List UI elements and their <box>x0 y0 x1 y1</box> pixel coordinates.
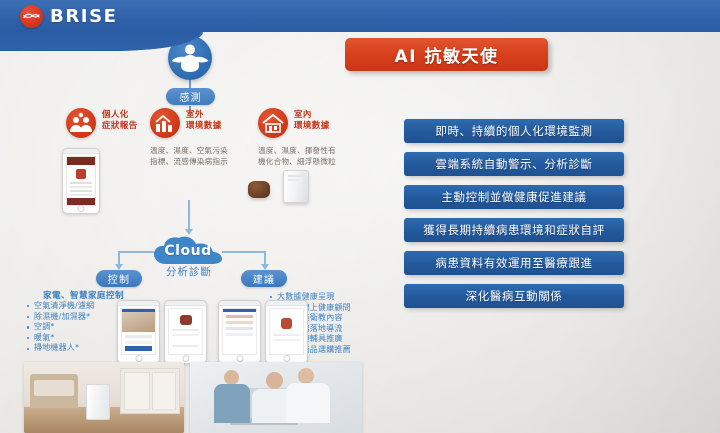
statement-pill: 即時、持續的個人化環境監測 <box>404 119 624 143</box>
indoor-environment-icon <box>258 108 288 138</box>
advice-phone-mockup-1 <box>218 300 261 364</box>
swoosh-glyph <box>23 12 40 21</box>
sensor-label-line2: 症狀報告 <box>102 121 138 131</box>
presentation-slide: BRISE AI 抗敏天使 感測 個人化 症狀報 <box>0 0 720 433</box>
brand-name: BRISE <box>50 6 118 27</box>
family-symptom-icon <box>66 108 96 138</box>
phone-status-bar <box>266 301 307 306</box>
phone-screen <box>66 156 96 206</box>
control-node-label: 控制 <box>108 271 130 286</box>
flow-to-cloud-line <box>188 200 190 230</box>
sensor-desc-line1: 溫度、濕度、空氣污染 <box>150 146 228 155</box>
phone-status-bar <box>219 301 260 306</box>
brand-logo: BRISE <box>20 5 118 28</box>
sensor-label-line1: 室內 <box>294 110 312 120</box>
sensor-label-outdoor: 室外 環境數據 <box>186 110 222 132</box>
doctors-reviewing-laptop-photo <box>190 362 362 433</box>
phone-home-button <box>236 355 243 362</box>
statement-text: 雲端系統自動警示、分析診斷 <box>435 156 592 172</box>
house-glyph <box>258 108 288 138</box>
brise-swoosh-logo-icon <box>20 5 43 28</box>
city-skyline-glyph <box>150 108 180 138</box>
cloud-label: Cloud <box>152 236 224 266</box>
cloud-sublabel: 分析診斷 <box>146 264 232 279</box>
statement-text: 深化醫病互動關係 <box>466 288 563 304</box>
page-title: AI 抗敏天使 <box>395 42 499 67</box>
phone-home-button <box>283 355 290 362</box>
statement-pill: 雲端系統自動警示、分析診斷 <box>404 152 624 176</box>
living-room-with-air-purifier-photo <box>24 362 184 433</box>
white-air-purifier-device <box>283 170 309 203</box>
list-item: 空氣清淨機/濾網 <box>27 301 94 312</box>
sensor-desc-indoor: 溫度、濕度、揮發性有 機化合物、細浮懸微粒 <box>258 145 336 167</box>
flow-to-cloud-arrow <box>185 229 193 235</box>
statement-text: 即時、持續的個人化環境監測 <box>435 123 592 139</box>
statement-text: 病患資料有效運用至醫療跟進 <box>435 255 592 271</box>
statement-text: 主動控制並做健康促進建議 <box>441 189 586 205</box>
control-phone-mockup-2 <box>164 300 207 364</box>
phone-status-bar <box>165 301 206 306</box>
phone-status-bar <box>63 149 99 154</box>
list-item: 暖氣* <box>27 333 94 344</box>
phone-status-bar <box>118 301 159 306</box>
sense-node-label: 感測 <box>180 89 202 104</box>
sensor-label-line2: 環境數據 <box>186 121 222 131</box>
control-phone-mockup-1 <box>117 300 160 364</box>
statement-pill: 深化醫病互動關係 <box>404 284 624 308</box>
sensor-label-line2: 環境數據 <box>294 121 330 131</box>
control-branch-header: 家電、智慧家庭控制 <box>43 289 124 301</box>
statement-pill: 獲得長期持續病患環境和症狀自評 <box>404 218 624 242</box>
sensor-label-indoor: 室內 環境數據 <box>294 110 330 132</box>
sensor-label-line1: 室外 <box>186 110 204 120</box>
phone-home-button <box>78 205 85 212</box>
statement-text: 獲得長期持續病患環境和症狀自評 <box>423 222 605 238</box>
branch-line-right <box>222 251 266 253</box>
cloud-node: Cloud <box>152 236 224 266</box>
sense-node-pill: 感測 <box>166 88 215 105</box>
advice-node-pill: 建議 <box>241 270 287 287</box>
control-bullet-list: 空氣清淨機/濾網 除濕機/加濕器* 空調* 暖氣* 掃地機器人* <box>27 301 94 354</box>
symptom-report-phone-mockup <box>62 148 100 214</box>
statement-list: 即時、持續的個人化環境監測 雲端系統自動警示、分析診斷 主動控制並做健康促進建議… <box>404 119 624 317</box>
list-item: 空調* <box>27 322 94 333</box>
phone-home-button <box>135 355 142 362</box>
list-item: 除濕機/加濕器* <box>27 312 94 323</box>
slide-header: BRISE <box>0 0 720 32</box>
sensor-label-line1: 個人化 <box>102 110 129 120</box>
slide-title-banner: AI 抗敏天使 <box>345 38 548 71</box>
statement-pill: 病患資料有效運用至醫療跟進 <box>404 251 624 275</box>
outdoor-environment-icon <box>150 108 180 138</box>
sensor-desc-line2: 機化合物、細浮懸微粒 <box>258 157 336 166</box>
sensor-label-personal: 個人化 症狀報告 <box>102 110 138 132</box>
list-item: 掃地機器人* <box>27 343 94 354</box>
phone-home-button <box>182 355 189 362</box>
advice-phone-mockup-2 <box>265 300 308 364</box>
statement-pill: 主動控制並做健康促進建議 <box>404 185 624 209</box>
advice-node-label: 建議 <box>253 271 275 286</box>
branch-line-left <box>118 251 154 253</box>
sensor-desc-line2: 指標、流感傳染病指示 <box>150 157 228 166</box>
sensor-desc-outdoor: 溫度、濕度、空氣污染 指標、流感傳染病指示 <box>150 145 228 167</box>
brown-sensor-puck-device <box>248 181 270 198</box>
sensor-desc-line1: 溫度、濕度、揮發性有 <box>258 146 336 155</box>
control-node-pill: 控制 <box>96 270 142 287</box>
family-glyph <box>66 108 96 138</box>
